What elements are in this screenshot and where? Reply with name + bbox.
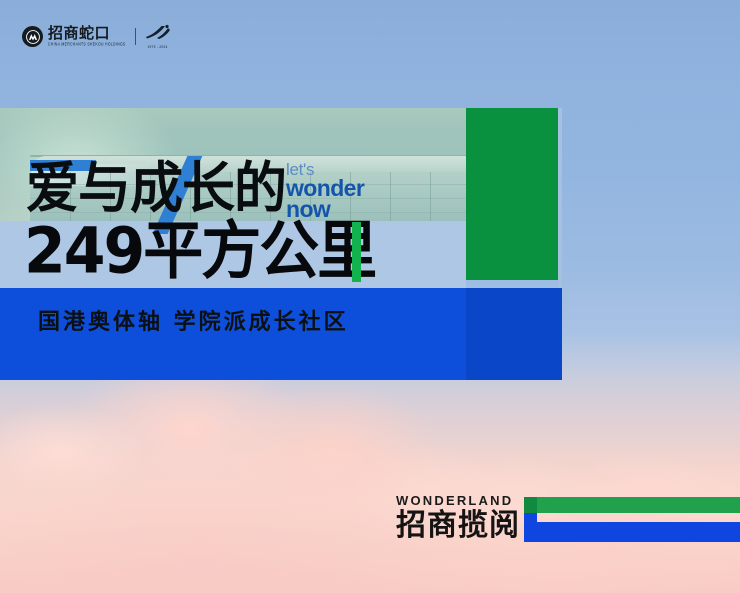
anniversary-45-emblem-icon: [145, 24, 171, 44]
blue-color-band-dark: [466, 288, 562, 380]
brand-name-cn: 招商揽阅: [396, 511, 520, 541]
company-name-en: CHINA MERCHANTS SHEKOU HOLDINGS: [48, 43, 126, 47]
green-color-block: [466, 108, 558, 280]
banner-light-band: [0, 221, 466, 288]
brand-bar-edge-green: [524, 497, 537, 513]
banner-right-edge: [558, 108, 562, 288]
facade-mullion: [350, 172, 351, 221]
facade-mullion: [110, 172, 111, 221]
brand-name-en: WONDERLAND: [396, 494, 520, 507]
facade-mullion: [230, 172, 231, 221]
facade-mullion: [390, 172, 391, 221]
blue-accent-plaque: [30, 160, 96, 171]
facade-band: [30, 184, 466, 185]
top-logo-lockup: 招商蛇口 CHINA MERCHANTS SHEKOU HOLDINGS 197…: [22, 24, 171, 49]
facade-mullion: [430, 172, 431, 221]
brand-bar-blue: [524, 522, 740, 542]
china-merchants-shekou-logo: 招商蛇口 CHINA MERCHANTS SHEKOU HOLDINGS: [22, 26, 126, 47]
logo-divider: [135, 28, 136, 45]
china-merchants-shekou-emblem-icon: [22, 26, 43, 47]
company-name-cn: 招商蛇口: [48, 26, 126, 41]
facade-band: [30, 198, 466, 199]
brand-bar-green: [524, 497, 740, 513]
brand-wordmark: WONDERLAND 招商揽阅: [396, 494, 520, 541]
anniversary-years: 1979 - 2024: [147, 46, 167, 49]
facade-mullion: [70, 172, 71, 221]
facade-mullion: [270, 172, 271, 221]
anniversary-logo: 1979 - 2024: [145, 24, 171, 49]
facade-mullion: [150, 172, 151, 221]
hero-banner: [0, 108, 562, 380]
facade-mullion: [310, 172, 311, 221]
brand-lockup: WONDERLAND 招商揽阅: [396, 494, 520, 541]
poster-canvas: 招商蛇口 CHINA MERCHANTS SHEKOU HOLDINGS 197…: [0, 0, 740, 593]
facade-band: [30, 212, 466, 213]
brand-color-bars: [524, 497, 740, 543]
china-merchants-shekou-wordmark: 招商蛇口 CHINA MERCHANTS SHEKOU HOLDINGS: [48, 26, 126, 46]
